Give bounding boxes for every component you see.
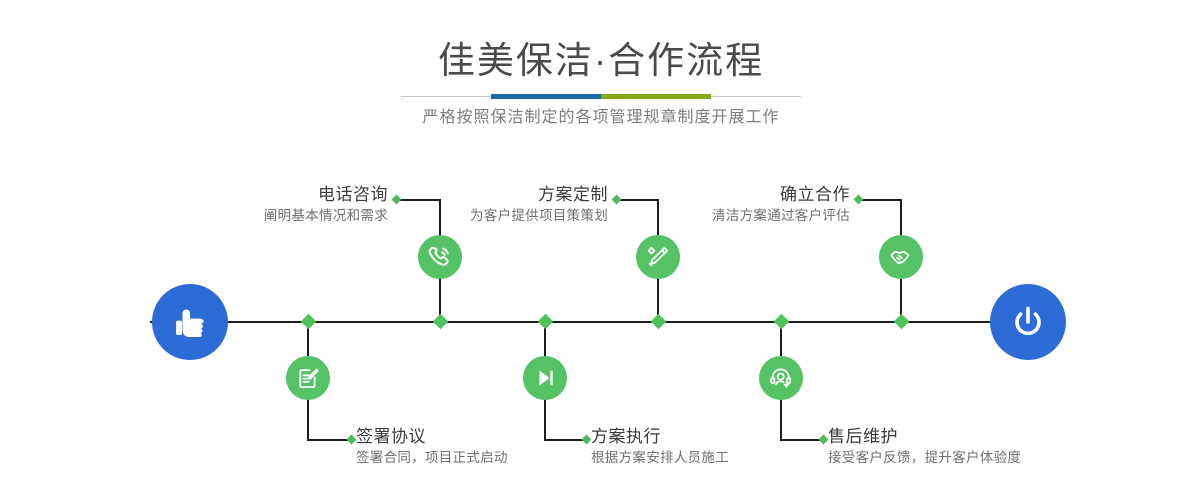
axis-marker-top-1 — [433, 314, 449, 330]
step-desc: 阐明基本情况和需求 — [148, 206, 388, 226]
power-icon — [1007, 301, 1049, 343]
page-subtitle: 严格按照保洁制定的各项管理规章制度开展工作 — [0, 106, 1202, 130]
connector-elbow-bottom-2 — [544, 439, 586, 441]
step-label-top-1: 电话咨询 阐明基本情况和需求 — [148, 184, 388, 226]
step-icon-phone[interactable] — [418, 235, 462, 279]
process-flow-diagram: 电话咨询 阐明基本情况和需求 方案定制 为客户提供项目策策划 — [0, 140, 1202, 502]
connector-marker-bottom-1 — [347, 435, 357, 445]
step-desc: 接受客户反馈，提升客户体验度 — [828, 448, 1108, 468]
step-title: 电话咨询 — [148, 184, 388, 206]
step-icon-execute[interactable] — [523, 356, 567, 400]
play-execute-icon — [532, 365, 558, 391]
headset-support-icon — [768, 365, 794, 391]
hand-point-right-icon — [169, 301, 211, 343]
axis-marker-bottom-1 — [301, 314, 317, 330]
page-title: 佳美保洁·合作流程 — [0, 38, 1202, 84]
step-title: 售后维护 — [828, 426, 1108, 448]
divider-segment-green — [601, 94, 711, 99]
connector-marker-top-3 — [854, 195, 864, 205]
axis-marker-bottom-3 — [774, 314, 790, 330]
step-title: 确立合作 — [610, 184, 850, 206]
step-desc: 为客户提供项目策策划 — [368, 206, 608, 226]
step-icon-contract[interactable] — [286, 356, 330, 400]
handshake-icon — [888, 244, 915, 271]
flow-end-node[interactable] — [990, 284, 1066, 360]
flow-start-node[interactable] — [152, 284, 228, 360]
step-title: 方案执行 — [591, 426, 851, 448]
step-icon-pencil[interactable] — [636, 235, 680, 279]
phone-ring-icon — [427, 244, 453, 270]
step-desc: 签署合同，项目正式启动 — [356, 448, 616, 468]
step-label-bottom-1: 签署协议 签署合同，项目正式启动 — [356, 426, 616, 468]
timeline-axis — [150, 321, 1052, 323]
step-desc: 清洁方案通过客户评估 — [610, 206, 850, 226]
axis-marker-top-2 — [651, 314, 667, 330]
divider-segment-blue — [491, 94, 601, 99]
step-title: 签署协议 — [356, 426, 616, 448]
pencil-icon — [645, 244, 671, 270]
step-label-bottom-2: 方案执行 根据方案安排人员施工 — [591, 426, 851, 468]
step-icon-support[interactable] — [759, 356, 803, 400]
page-header: 佳美保洁·合作流程 严格按照保洁制定的各项管理规章制度开展工作 — [0, 0, 1202, 140]
connector-elbow-bottom-3 — [780, 439, 823, 441]
step-label-top-3: 确立合作 清洁方案通过客户评估 — [610, 184, 850, 226]
axis-marker-bottom-2 — [538, 314, 554, 330]
step-label-top-2: 方案定制 为客户提供项目策策划 — [368, 184, 608, 226]
title-divider — [401, 94, 801, 99]
process-flow-page: 佳美保洁·合作流程 严格按照保洁制定的各项管理规章制度开展工作 — [0, 0, 1202, 502]
axis-marker-top-3 — [894, 314, 910, 330]
step-icon-handshake[interactable] — [879, 235, 923, 279]
connector-elbow-top-3 — [858, 199, 902, 201]
step-desc: 根据方案安排人员施工 — [591, 448, 851, 468]
connector-elbow-bottom-1 — [307, 439, 352, 441]
step-label-bottom-3: 售后维护 接受客户反馈，提升客户体验度 — [828, 426, 1108, 468]
step-title: 方案定制 — [368, 184, 608, 206]
contract-sign-icon — [296, 366, 321, 391]
